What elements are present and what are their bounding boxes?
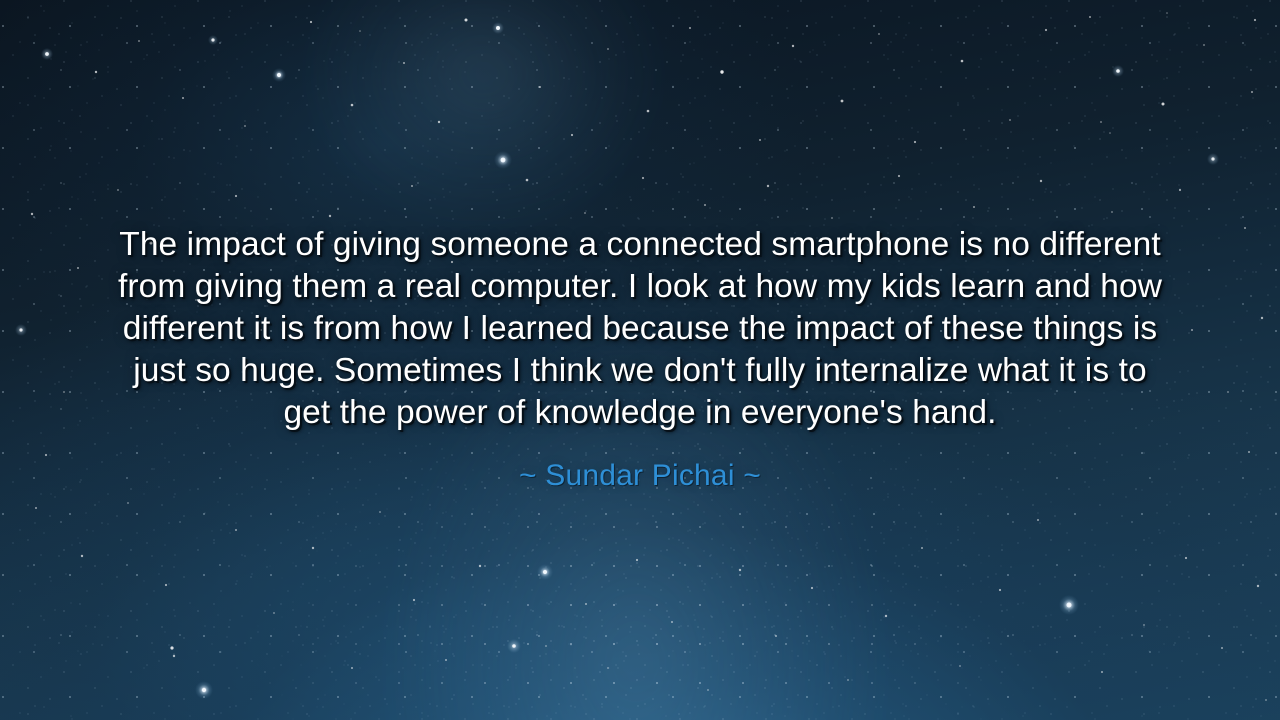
quote-text: The impact of giving someone a connected… [115,224,1165,434]
quote-block: The impact of giving someone a connected… [0,224,1280,494]
quote-wallpaper: The impact of giving someone a connected… [0,0,1280,720]
quote-author: ~ Sundar Pichai ~ [519,458,761,494]
